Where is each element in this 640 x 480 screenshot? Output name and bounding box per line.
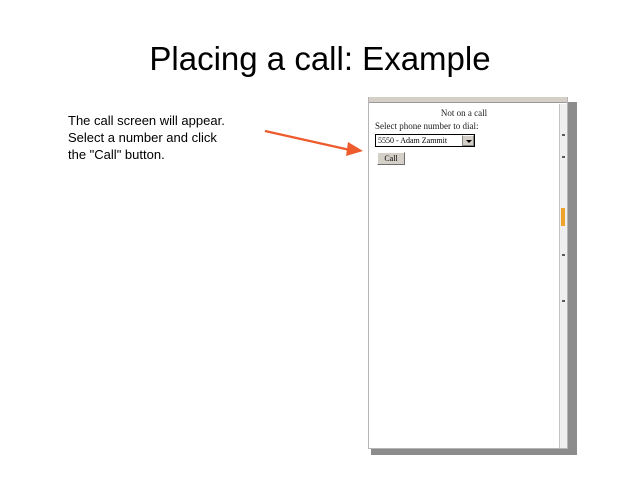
call-screen-content: Not on a call Select phone number to dia… bbox=[369, 104, 559, 448]
scrollbar-thumb[interactable] bbox=[561, 208, 565, 226]
embedded-screenshot: Not on a call Select phone number to dia… bbox=[368, 97, 572, 449]
body-text-line-2: Select a number and click bbox=[68, 129, 288, 146]
body-text-line-3: the "Call" button. bbox=[68, 146, 288, 163]
scrollbar-mark bbox=[562, 156, 565, 158]
panel-drop-shadow-right bbox=[568, 102, 577, 452]
scrollbar-mark bbox=[562, 300, 565, 302]
vertical-scrollbar[interactable] bbox=[559, 104, 568, 448]
chevron-down-glyph bbox=[466, 140, 472, 143]
dial-number-label: Select phone number to dial: bbox=[375, 121, 478, 131]
callout-arrow-head bbox=[346, 142, 363, 156]
call-status-text: Not on a call bbox=[369, 108, 559, 118]
browser-window-frame: Not on a call Select phone number to dia… bbox=[368, 97, 568, 449]
call-button[interactable]: Call bbox=[377, 152, 405, 165]
phone-number-selected-value: 5550 - Adam Zammit bbox=[378, 136, 447, 146]
phone-number-dropdown[interactable]: 5550 - Adam Zammit bbox=[375, 134, 475, 147]
body-text-line-1: The call screen will appear. bbox=[68, 112, 288, 129]
slide-body-text: The call screen will appear. Select a nu… bbox=[68, 112, 288, 163]
chevron-down-icon[interactable] bbox=[462, 135, 474, 146]
page-title: Placing a call: Example bbox=[0, 40, 640, 78]
scrollbar-mark bbox=[562, 134, 565, 136]
scrollbar-mark bbox=[562, 254, 565, 256]
browser-toolbar-edge bbox=[369, 97, 568, 103]
